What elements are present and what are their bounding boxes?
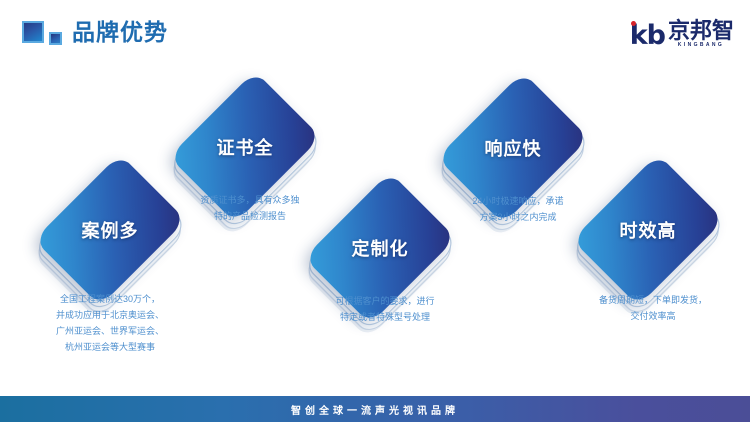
slide-canvas: 品牌优势 kb 京邦智 KINGBANG 案例多 全国工程案例达30万个， 并成… bbox=[0, 0, 750, 422]
diamond-face bbox=[583, 145, 713, 315]
brand-logo: kb 京邦智 KINGBANG bbox=[630, 15, 734, 49]
accent-square-small-icon bbox=[49, 32, 62, 45]
advantage-description: 备货周期短，下单即发货， 交付效率高 bbox=[543, 292, 750, 324]
slide-header: 品牌优势 kb 京邦智 KINGBANG bbox=[0, 0, 750, 62]
accent-square-large-icon bbox=[22, 21, 44, 43]
logo-mark-text: kb bbox=[630, 22, 665, 49]
page-title: 品牌优势 bbox=[72, 16, 168, 48]
advantage-description: 全国工程案例达30万个， 并成功应用于北京奥运会、 广州亚运会、世界军运会、 杭… bbox=[0, 291, 220, 355]
diamond-shape[interactable]: 案例多 bbox=[45, 145, 175, 315]
diamond-face bbox=[45, 145, 175, 315]
logo-wordmark: 京邦智 KINGBANG bbox=[668, 19, 734, 49]
logo-mark-icon: kb bbox=[630, 22, 665, 49]
footer-slogan: 智创全球一流声光视讯品牌 bbox=[291, 402, 459, 417]
advantage-description: 可根据客户的要求，进行 特定或者特殊型号处理 bbox=[275, 293, 495, 325]
logo-red-dot-icon bbox=[631, 21, 636, 26]
diamond-shape[interactable]: 时效高 bbox=[583, 145, 713, 315]
logo-name-cn: 京邦智 bbox=[668, 19, 734, 42]
logo-name-en: KINGBANG bbox=[678, 42, 724, 49]
slide-footer: 智创全球一流声光视讯品牌 bbox=[0, 396, 750, 422]
